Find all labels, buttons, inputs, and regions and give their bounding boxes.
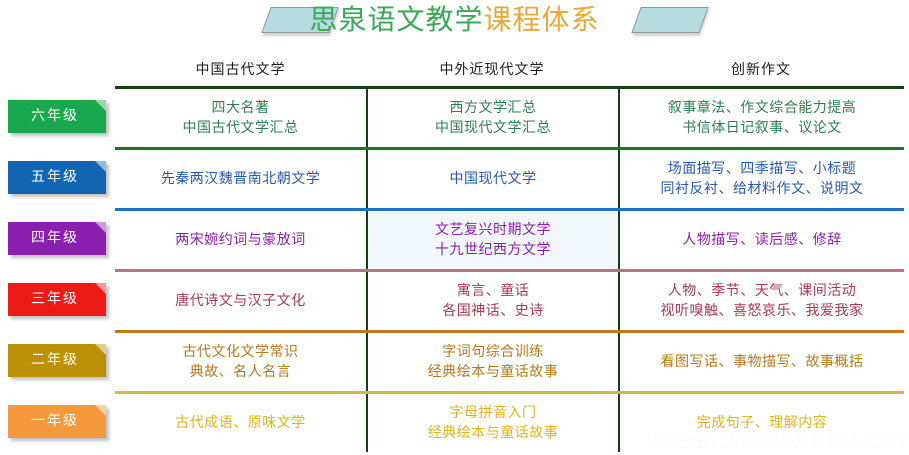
matrix-cell-text: 字母拼音入门 经典绘本与童话故事: [428, 403, 559, 443]
column-header-row: 中国古代文学 中外近现代文学 创新作文: [115, 55, 904, 86]
matrix-cell: 西方文学汇总 中国现代文学汇总: [368, 89, 618, 147]
matrix-cell-text: 古代文化文学常识 典故、名人名言: [183, 342, 299, 382]
grade-tab[interactable]: 六年级: [8, 100, 106, 133]
matrix-cell: 场面描写、四季描写、小标题 同衬反衬、给材料作文、说明文: [620, 150, 904, 208]
grade-tab[interactable]: 四年级: [8, 222, 106, 255]
matrix-cell-text: 寓言、童话 各国神话、史诗: [442, 281, 544, 321]
grade-tab[interactable]: 一年级: [8, 405, 106, 438]
grade-tab[interactable]: 三年级: [8, 283, 106, 316]
matrix-row: 四大名著 中国古代文学汇总西方文学汇总 中国现代文学汇总叙事章法、作文综合能力提…: [115, 89, 904, 150]
matrix-row: 两宋婉约词与豪放词文艺复兴时期文学 十九世纪西方文学人物描写、读后感、修辞: [115, 211, 904, 272]
matrix-cell-text: 看图写话、事物描写、故事概括: [661, 352, 864, 372]
matrix-cell-text: 中国现代文学: [450, 169, 537, 189]
column-header-creative-writing: 创新作文: [618, 59, 904, 79]
matrix-cell-text: 古代成语、原味文学: [175, 413, 306, 433]
matrix-cell: 唐代诗文与汉子文化: [115, 272, 366, 330]
grade-tab-label: 三年级: [8, 283, 106, 316]
grade-tab-label: 六年级: [8, 100, 106, 133]
matrix-row: 先秦两汉魏晋南北朝文学中国现代文学场面描写、四季描写、小标题 同衬反衬、给材料作…: [115, 150, 904, 211]
grade-tab-label: 四年级: [8, 222, 106, 255]
page-title: 思泉语文教学课程体系: [0, 2, 909, 38]
matrix-cell-text: 人物描写、读后感、修辞: [682, 230, 842, 250]
matrix-cell-text: 场面描写、四季描写、小标题 同衬反衬、给材料作文、说明文: [661, 159, 864, 199]
grade-tab-column: 六年级五年级四年级三年级二年级一年级: [0, 88, 115, 453]
matrix-cell: 字母拼音入门 经典绘本与童话故事: [368, 394, 618, 452]
matrix-row: 唐代诗文与汉子文化寓言、童话 各国神话、史诗人物、季节、天气、课间活动 视听嗅触…: [115, 272, 904, 333]
matrix-cell-text: 字词句综合训练 经典绘本与童话故事: [428, 342, 559, 382]
grade-tab[interactable]: 二年级: [8, 344, 106, 377]
matrix-cell: 先秦两汉魏晋南北朝文学: [115, 150, 366, 208]
matrix-row: 古代文化文学常识 典故、名人名言字词句综合训练 经典绘本与童话故事看图写话、事物…: [115, 333, 904, 394]
matrix-cell-text: 西方文学汇总 中国现代文学汇总: [435, 98, 551, 138]
grade-tab-label: 二年级: [8, 344, 106, 377]
matrix-cell: 文艺复兴时期文学 十九世纪西方文学: [368, 211, 618, 269]
grade-tab[interactable]: 五年级: [8, 161, 106, 194]
matrix-cell: 四大名著 中国古代文学汇总: [115, 89, 366, 147]
grade-tab-label: 一年级: [8, 405, 106, 438]
matrix-cell-text: 四大名著 中国古代文学汇总: [183, 98, 299, 138]
matrix-cell: 人物、季节、天气、课间活动 视听嗅触、喜怒哀乐、我爱我家: [620, 272, 904, 330]
matrix-cell: 古代文化文学常识 典故、名人名言: [115, 333, 366, 391]
curriculum-matrix: 中国古代文学 中外近现代文学 创新作文 四大名著 中国古代文学汇总西方文学汇总 …: [115, 55, 904, 453]
page-title-primary: 思泉语文教学: [309, 3, 483, 36]
matrix-cell-text: 两宋婉约词与豪放词: [175, 230, 306, 250]
matrix-cell: 看图写话、事物描写、故事概括: [620, 333, 904, 391]
matrix-cell-text: 人物、季节、天气、课间活动 视听嗅触、喜怒哀乐、我爱我家: [661, 281, 864, 321]
grade-tab-label: 五年级: [8, 161, 106, 194]
page-title-secondary: 课程体系: [484, 3, 600, 36]
matrix-cell-text: 唐代诗文与汉子文化: [175, 291, 306, 311]
matrix-cell: 两宋婉约词与豪放词: [115, 211, 366, 269]
matrix-cell-text: 先秦两汉魏晋南北朝文学: [161, 169, 321, 189]
matrix-cell-text: 文艺复兴时期文学 十九世纪西方文学: [435, 220, 551, 260]
matrix-cell: 字词句综合训练 经典绘本与童话故事: [368, 333, 618, 391]
matrix-cell: 中国现代文学: [368, 150, 618, 208]
matrix-cell: 叙事章法、作文综合能力提高 书信体日记叙事、议论文: [620, 89, 904, 147]
column-header-ancient-literature: 中国古代文学: [115, 59, 366, 79]
site-watermark: www.xunibaoku.com: [648, 428, 909, 453]
matrix-cell: 古代成语、原味文学: [115, 394, 366, 452]
matrix-cell: 人物描写、读后感、修辞: [620, 211, 904, 269]
column-header-modern-literature: 中外近现代文学: [366, 59, 618, 79]
matrix-cell: 寓言、童话 各国神话、史诗: [368, 272, 618, 330]
title-bar: 思泉语文教学课程体系: [0, 0, 909, 44]
matrix-cell-text: 叙事章法、作文综合能力提高 书信体日记叙事、议论文: [668, 98, 857, 138]
